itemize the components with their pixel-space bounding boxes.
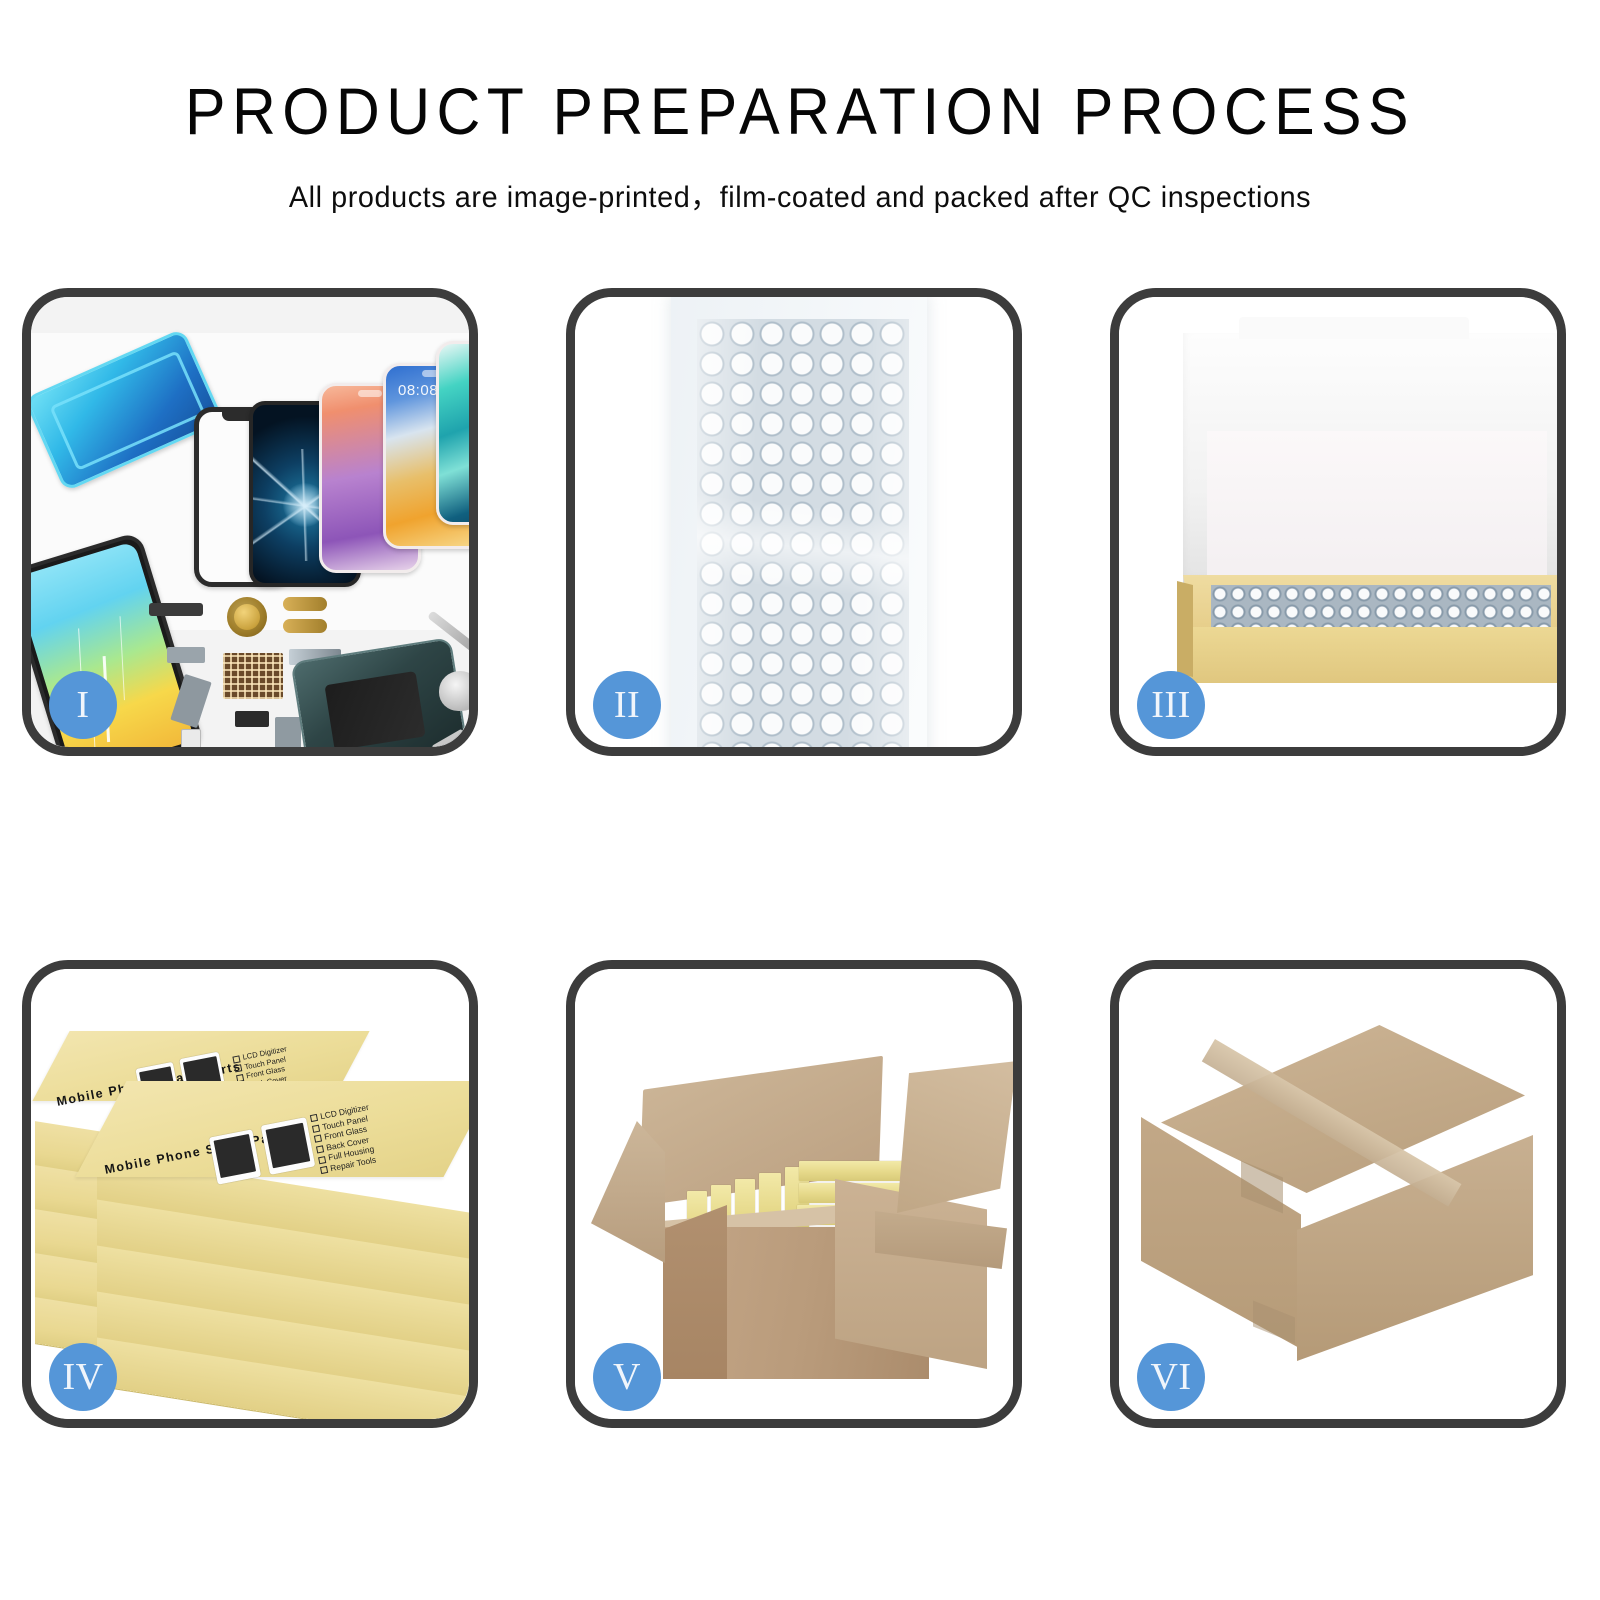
bubble-wrap-texture bbox=[697, 319, 909, 747]
bubble-wrap-sleeve bbox=[671, 297, 927, 747]
carton-flap-left bbox=[591, 1121, 665, 1263]
process-step-4: Mobile Phone Spare Parts LCD Digitizer T… bbox=[22, 960, 478, 1428]
box-foam-liner bbox=[1207, 431, 1547, 587]
step-badge-3: III bbox=[1137, 671, 1205, 739]
process-step-3: III bbox=[1110, 288, 1566, 756]
retail-box-screen-image bbox=[209, 1129, 261, 1185]
notch bbox=[358, 390, 383, 397]
step-badge-5: V bbox=[593, 1343, 661, 1411]
carton-body-left bbox=[663, 1205, 727, 1379]
process-step-6: VI bbox=[1110, 960, 1566, 1428]
sim-tray-part bbox=[181, 729, 201, 747]
flex-cable-part bbox=[283, 597, 327, 611]
ic-chip-part bbox=[223, 653, 283, 699]
vibration-motor-part bbox=[275, 717, 301, 747]
box-tray-side-face bbox=[1177, 581, 1193, 677]
process-step-2: II bbox=[566, 288, 1022, 756]
step-badge-6: VI bbox=[1137, 1343, 1205, 1411]
carton-flap-right bbox=[897, 1061, 1013, 1213]
box-tray-front-face bbox=[1183, 627, 1557, 683]
retail-box-screen-image bbox=[261, 1117, 316, 1175]
cleaning-brush-tool bbox=[439, 671, 469, 711]
process-step-grid: 08:08 I bbox=[22, 288, 1578, 1428]
process-step-1: 08:08 I bbox=[22, 288, 478, 756]
step-badge-1: I bbox=[49, 671, 117, 739]
retail-box-checklist: LCD Digitizer Touch Panel Front Glass Ba… bbox=[309, 1102, 379, 1176]
page-title: PRODUCT PREPARATION PROCESS bbox=[64, 0, 1536, 144]
flex-cable-part bbox=[283, 619, 327, 633]
phone-display-teal bbox=[436, 341, 469, 525]
page-subtitle: All products are image-printed，film-coat… bbox=[32, 144, 1568, 216]
wireless-charging-coil bbox=[227, 597, 267, 637]
speaker-mesh-part bbox=[149, 603, 203, 616]
step-badge-4: IV bbox=[49, 1343, 117, 1411]
page-header: PRODUCT PREPARATION PROCESS All products… bbox=[0, 0, 1600, 216]
step-badge-2: II bbox=[593, 671, 661, 739]
process-step-5: V bbox=[566, 960, 1022, 1428]
connector-part bbox=[167, 647, 205, 663]
phone-clock-text: 08:08 bbox=[398, 382, 438, 399]
camera-module-part bbox=[235, 711, 269, 727]
